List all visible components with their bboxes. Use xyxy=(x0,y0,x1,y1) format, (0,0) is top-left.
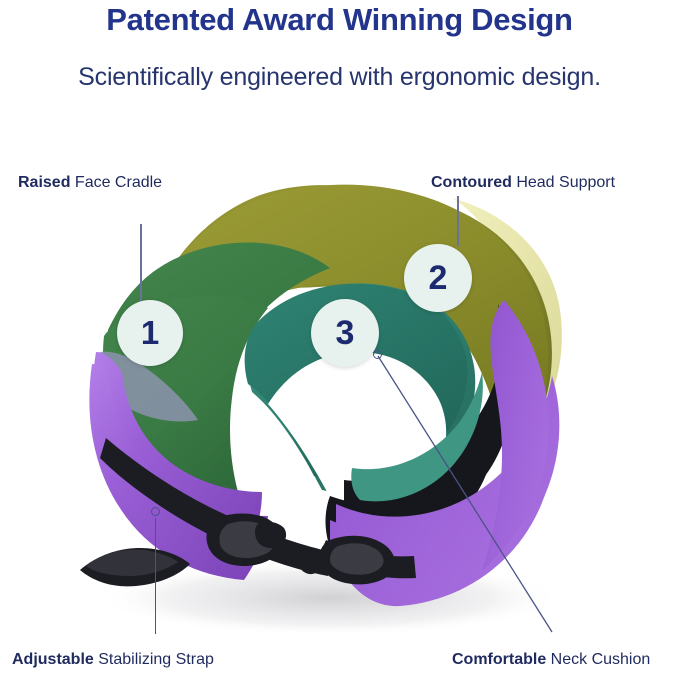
callout-label-raised-face-cradle: Raised Face Cradle xyxy=(18,174,162,192)
callout-label-comfortable-neck-cushion: Comfortable Neck Cushion xyxy=(452,651,650,669)
badge-3-label: 3 xyxy=(336,314,355,353)
leader-line-contoured-head-support xyxy=(457,196,459,246)
badge-1-raised-face-cradle[interactable]: 1 xyxy=(117,300,183,366)
badge-2-label: 2 xyxy=(429,259,448,298)
callout-bold-contoured: Contoured xyxy=(431,174,512,191)
callout-bold-comfortable: Comfortable xyxy=(452,651,546,668)
badge-1-label: 1 xyxy=(141,314,159,352)
badge-2-contoured-head-support[interactable]: 2 xyxy=(404,244,472,312)
leader-dot-adjustable-stabilizing-strap xyxy=(151,507,160,516)
callout-rest-neck-cushion: Neck Cushion xyxy=(546,651,650,668)
leader-line-raised-face-cradle xyxy=(140,224,142,302)
leader-dot-comfortable-neck-cushion xyxy=(373,350,382,359)
infographic-page: Patented Award Winning Design Scientific… xyxy=(0,0,679,674)
leader-line-adjustable-stabilizing-strap xyxy=(155,518,156,634)
callout-rest-stabilizing-strap: Stabilizing Strap xyxy=(94,651,214,668)
callout-label-contoured-head-support: Contoured Head Support xyxy=(431,174,615,192)
callout-bold-raised: Raised xyxy=(18,174,70,191)
callout-label-adjustable-stabilizing-strap: Adjustable Stabilizing Strap xyxy=(12,651,214,669)
callout-bold-adjustable: Adjustable xyxy=(12,651,94,668)
badge-3-comfortable-neck-cushion[interactable]: 3 xyxy=(311,299,379,367)
callout-rest-face-cradle: Face Cradle xyxy=(70,174,162,191)
callout-rest-head-support: Head Support xyxy=(512,174,615,191)
